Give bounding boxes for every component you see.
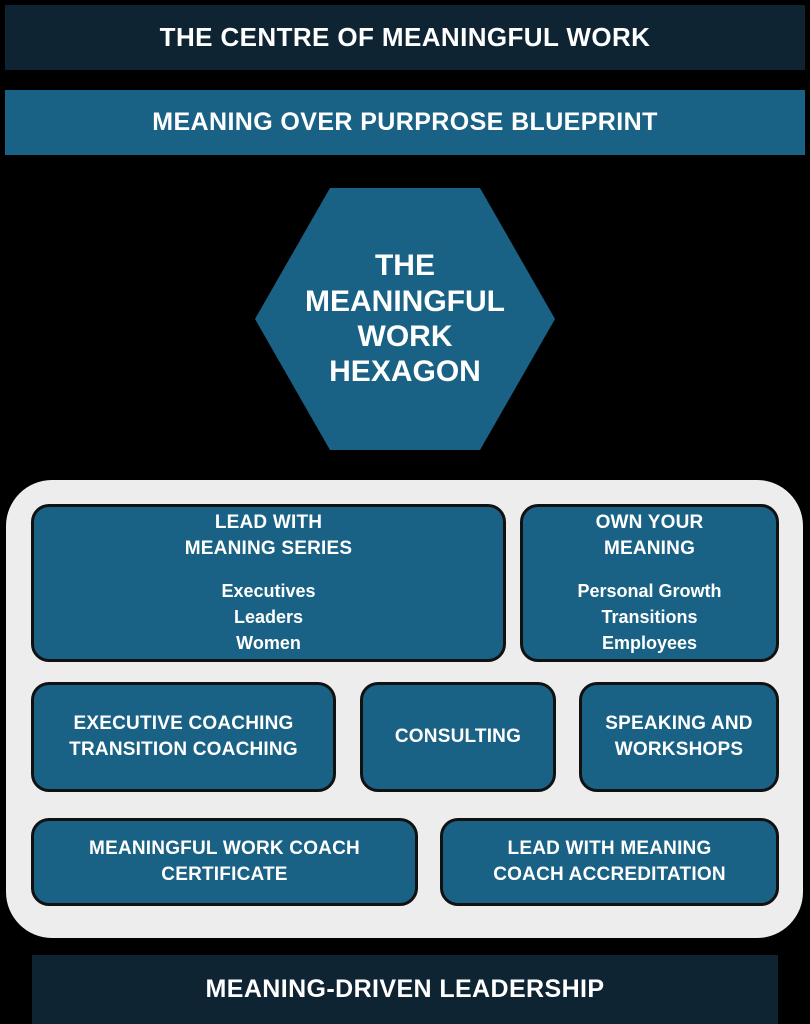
card-title: MEANINGFUL WORK COACH CERTIFICATE	[89, 836, 360, 887]
card-title: OWN YOUR MEANING	[596, 510, 704, 561]
card-subtitle: Personal Growth Transitions Employees	[577, 578, 721, 656]
card-speaking-and-workshops[interactable]: SPEAKING AND WORKSHOPS	[579, 682, 779, 792]
infographic-canvas: THE CENTRE OF MEANINGFUL WORK MEANING OV…	[0, 0, 810, 1024]
footer-banner: MEANING-DRIVEN LEADERSHIP	[32, 955, 778, 1024]
card-lead-with-meaning-coach-accreditation[interactable]: LEAD WITH MEANING COACH ACCREDITATION	[440, 818, 779, 906]
card-title: LEAD WITH MEANING COACH ACCREDITATION	[493, 836, 726, 887]
card-title: EXECUTIVE COACHING TRANSITION COACHING	[69, 711, 298, 762]
card-title: CONSULTING	[395, 724, 521, 750]
card-executive-transition-coaching[interactable]: EXECUTIVE COACHING TRANSITION COACHING	[31, 682, 336, 792]
card-meaningful-work-coach-certificate[interactable]: MEANINGFUL WORK COACH CERTIFICATE	[31, 818, 418, 906]
card-consulting[interactable]: CONSULTING	[360, 682, 556, 792]
card-lead-with-meaning-series[interactable]: LEAD WITH MEANING SERIES Executives Lead…	[31, 504, 506, 662]
card-title: SPEAKING AND WORKSHOPS	[605, 711, 752, 762]
card-subtitle: Executives Leaders Women	[221, 578, 315, 656]
organisation-title-banner: THE CENTRE OF MEANINGFUL WORK	[5, 5, 805, 70]
meaningful-work-hexagon: THE MEANINGFUL WORK HEXAGON	[255, 188, 555, 450]
hexagon-label: THE MEANINGFUL WORK HEXAGON	[255, 188, 555, 450]
card-own-your-meaning[interactable]: OWN YOUR MEANING Personal Growth Transit…	[520, 504, 779, 662]
card-title: LEAD WITH MEANING SERIES	[185, 510, 353, 561]
blueprint-title-banner: MEANING OVER PURPROSE BLUEPRINT	[5, 90, 805, 155]
